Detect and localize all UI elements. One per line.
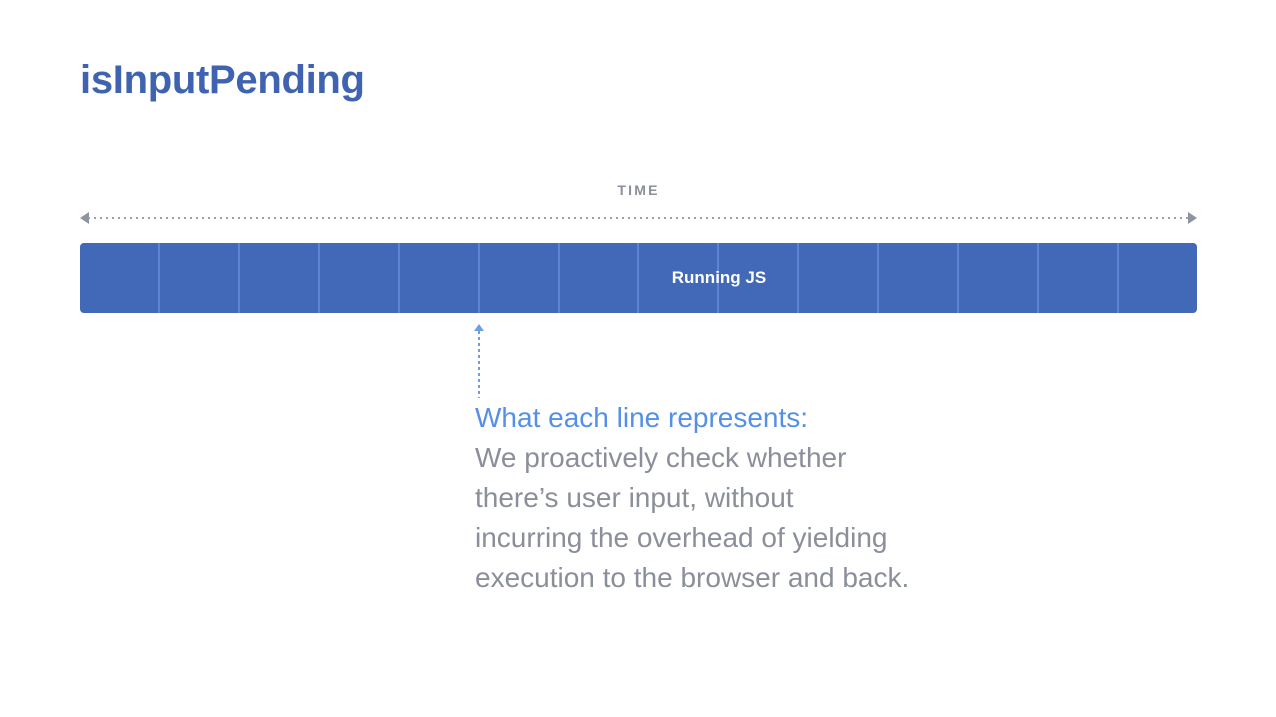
timeline-segment: [480, 243, 560, 313]
time-axis-dotted-line: [88, 217, 1189, 219]
callout-text-block: What each line represents: We proactivel…: [475, 398, 995, 598]
callout-body-line: We proactively check whether: [475, 438, 995, 478]
callout-body-line: execution to the browser and back.: [475, 558, 995, 598]
time-axis-label: TIME: [80, 182, 1197, 198]
timeline-segment: [1119, 243, 1197, 313]
timeline-segment: [80, 243, 160, 313]
callout-body-line: there’s user input, without: [475, 478, 995, 518]
timeline-segment: [879, 243, 959, 313]
time-axis: TIME: [80, 182, 1197, 226]
timeline-segment: [560, 243, 640, 313]
callout-pointer: [474, 324, 484, 398]
callout-body-line: incurring the overhead of yielding: [475, 518, 995, 558]
timeline-segment: [639, 243, 719, 313]
page-title: isInputPending: [80, 58, 365, 102]
callout-body: We proactively check whether there’s use…: [475, 438, 995, 598]
pointer-dotted-stem: [478, 331, 480, 398]
timeline-bar: [80, 243, 1197, 313]
timeline-segment: [320, 243, 400, 313]
timeline-segment: [719, 243, 799, 313]
arrow-right-icon: [1188, 212, 1197, 224]
timeline-segment: [240, 243, 320, 313]
arrow-up-icon: [474, 324, 484, 331]
callout-heading: What each line represents:: [475, 398, 995, 438]
timeline-segment: [1039, 243, 1119, 313]
timeline-segment: [799, 243, 879, 313]
timeline-segment: [400, 243, 480, 313]
timeline-segment: [959, 243, 1039, 313]
timeline-segment: [160, 243, 240, 313]
slide-canvas: isInputPending TIME Running JS What each…: [0, 0, 1276, 717]
